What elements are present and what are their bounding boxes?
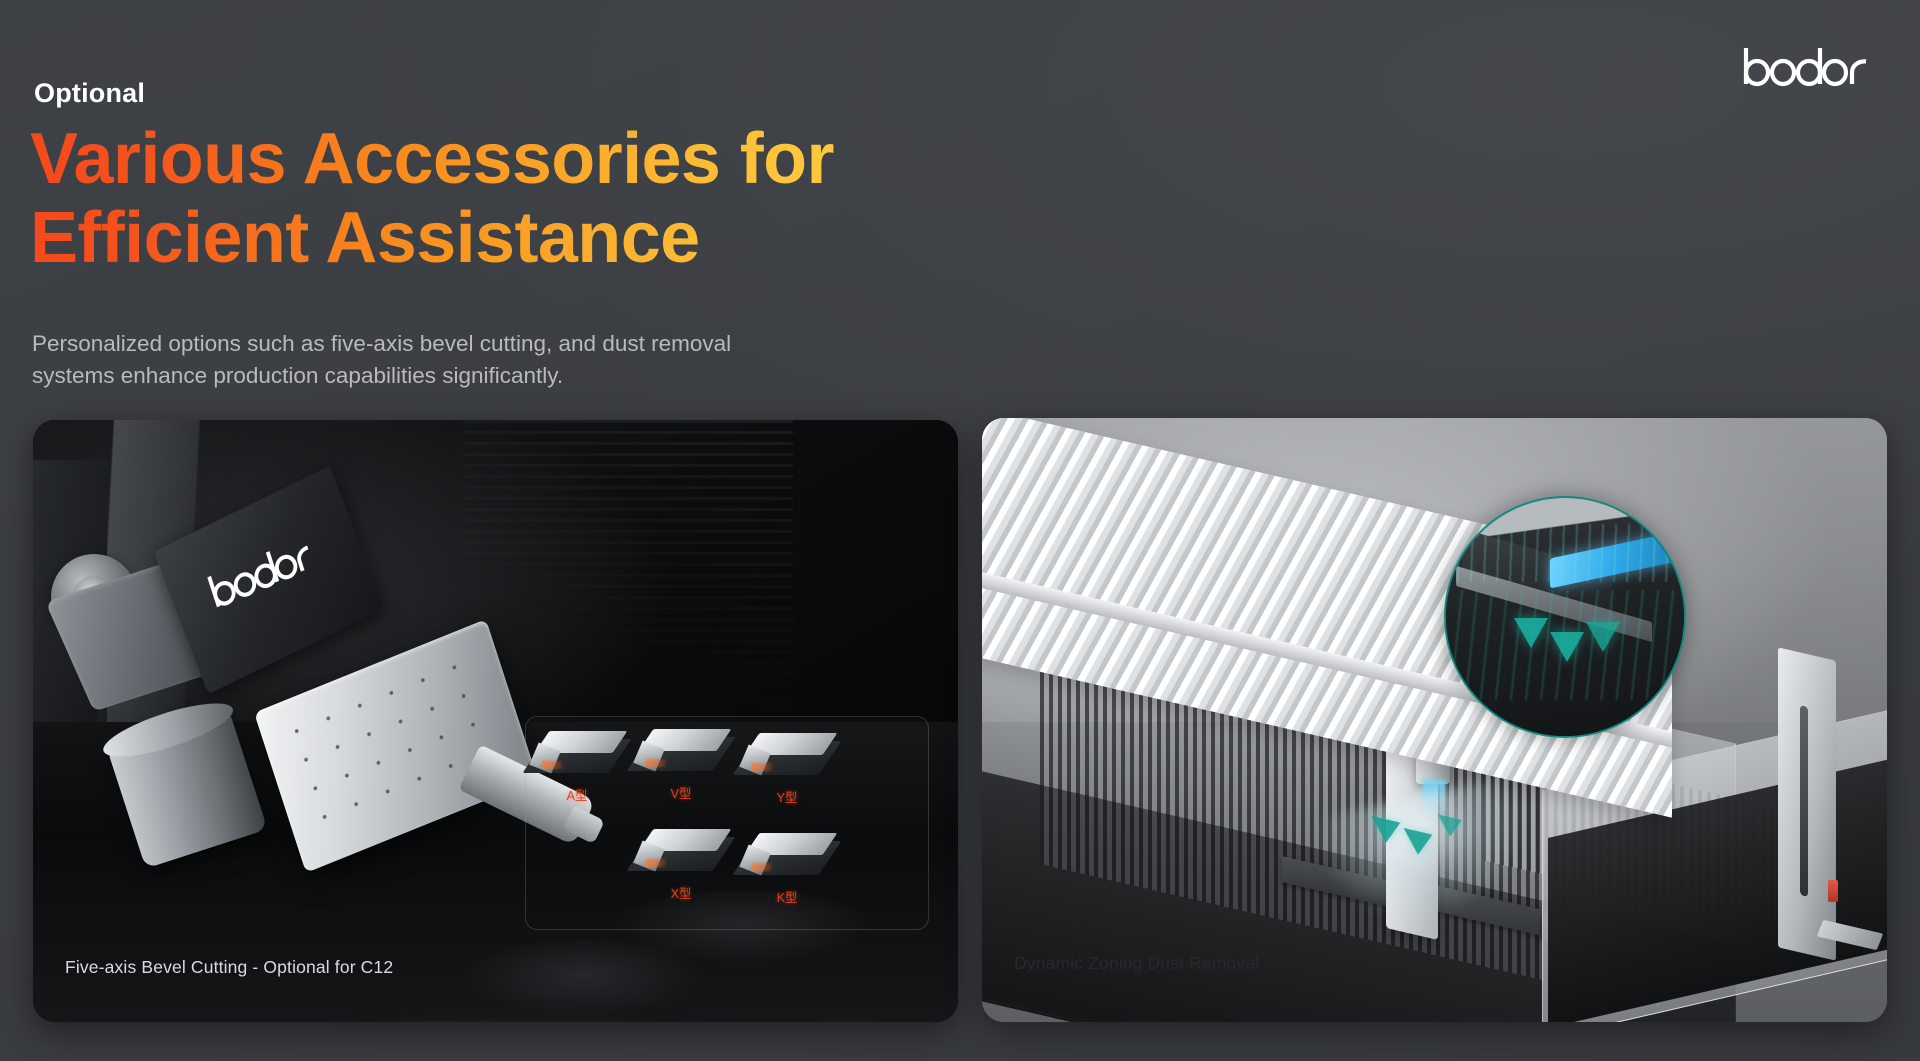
bevel-sample: X型 [638,829,724,885]
five-axis-cutting-head [75,512,595,952]
bevel-sample-label: X型 [671,883,692,902]
sample-cut-edge [646,859,666,867]
bevel-sample: Y型 [744,733,830,789]
red-indicator-tab [1828,880,1838,902]
bevel-sample-label: V型 [671,783,692,802]
magnifier-airflow-arrow [1586,622,1620,652]
side-panel-slot [1800,705,1808,897]
bevel-sample: K型 [744,833,830,889]
magnifier-airflow-arrow [1550,632,1584,662]
eyebrow-label: Optional [34,78,145,109]
head-body [254,619,538,873]
bevel-sample: V型 [638,729,724,785]
page-title: Various Accessories for Efficient Assist… [30,120,1030,278]
sample-cut-edge [752,863,772,871]
bevel-sample: A型 [534,731,620,787]
head-bodor-logo [201,530,323,613]
card-five-axis-bevel-cutting[interactable]: A型 V型 Y型 [33,420,958,1022]
rotary-cylinder [106,707,267,868]
bevel-sample-label: K型 [777,887,798,906]
card-caption: Dynamic Zoning Dust Removal [1014,953,1259,974]
card-dynamic-zoning-dust-removal[interactable]: Dynamic Zoning Dust Removal [982,418,1887,1022]
bevel-sample-label: Y型 [777,787,798,806]
bevel-sample-label: A型 [567,785,588,804]
card-caption: Five-axis Bevel Cutting - Optional for C… [65,957,393,978]
slide-root: Optional Various Accessories for Efficie… [0,0,1920,1061]
dust-removal-photo [982,418,1887,1022]
magnifier-airflow-streaks-top [1446,524,1684,582]
five-axis-bevel-photo: A型 V型 Y型 [33,420,958,1022]
bodor-logo [1742,44,1870,88]
sample-cut-edge [646,759,666,767]
spark-glow [333,1010,853,1022]
sample-cut-edge [542,761,562,769]
page-subtitle: Personalized options such as five-axis b… [32,328,792,392]
magnifier-inset [1444,496,1686,738]
sample-cut-edge [752,763,772,771]
bevel-samples-panel: A型 V型 Y型 [525,716,929,930]
magnifier-airflow-arrow [1514,618,1548,648]
